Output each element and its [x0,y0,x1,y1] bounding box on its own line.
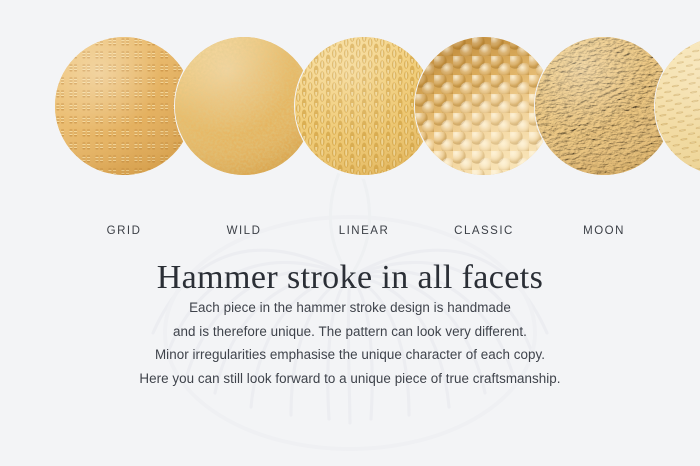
swatch-moon[interactable]: MOON [535,37,673,175]
swatch-classic[interactable]: CLASSIC [415,37,553,175]
body-line-1: Each piece in the hammer stroke design i… [0,296,700,320]
swatch-disc-linear [295,37,433,175]
swatch-label-classic: CLASSIC [415,225,553,237]
body-line-2: and is therefore unique. The pattern can… [0,320,700,344]
swatch-label-grid: GRID [55,225,193,237]
swatch-label-linear: LINEAR [295,225,433,237]
swatch-row: GRID [0,0,700,215]
swatch-label-moon: MOON [535,225,673,237]
body-copy: Each piece in the hammer stroke design i… [0,296,700,390]
swatch-disc-grid [55,37,193,175]
swatch-label-wild: WILD [175,225,313,237]
promo-banner: GRID [0,0,700,466]
swatch-disc-moon [535,37,673,175]
swatch-rice[interactable]: RICE [655,37,700,175]
swatch-label-rice: RICE [655,225,700,237]
swatch-disc-rice [655,37,700,175]
swatch-grid[interactable]: GRID [55,37,193,175]
body-line-4: Here you can still look forward to a uni… [0,367,700,391]
page-title: Hammer stroke in all facets [0,259,700,296]
swatch-wild[interactable]: WILD [175,37,313,175]
swatch-linear[interactable]: LINEAR [295,37,433,175]
swatch-disc-classic [415,37,553,175]
swatch-disc-wild [175,37,313,175]
body-line-3: Minor irregularities emphasise the uniqu… [0,343,700,367]
